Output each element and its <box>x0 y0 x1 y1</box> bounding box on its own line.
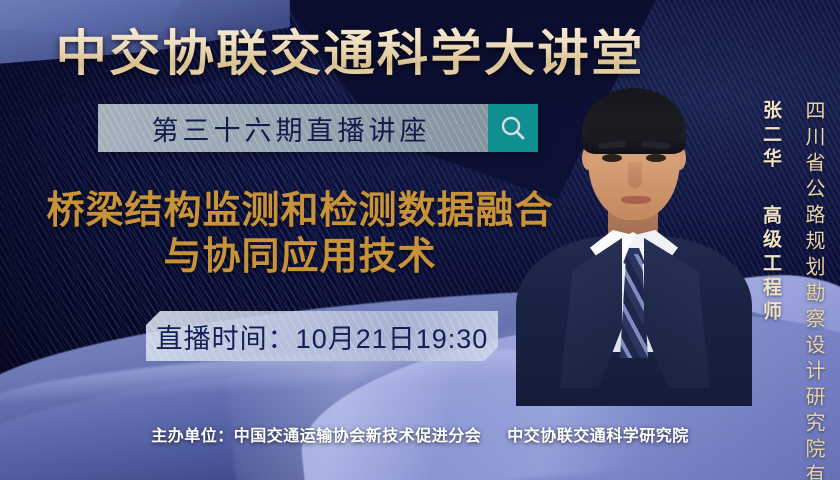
lecture-title-line2: 与协同应用技术 <box>30 234 570 280</box>
portrait-nose <box>628 162 642 188</box>
page-title: 中交协联交通科学大讲堂 <box>0 14 718 85</box>
live-time-badge: 直播时间：10月21日19:30 <box>146 311 498 361</box>
search-bar[interactable]: 第三十六期直播讲座 <box>98 104 538 152</box>
footer-organizers: 主办单位：中国交通运输协会新技术促进分会中交协联交通科学研究院 <box>0 422 840 446</box>
search-input-value: 第三十六期直播讲座 <box>152 109 435 148</box>
portrait-eye-right <box>646 154 666 162</box>
portrait-eye-left <box>602 154 622 162</box>
speaker-job-title: 高级工程师 <box>757 205 784 325</box>
organizer-name-2: 中交协联交通科学研究院 <box>507 428 689 445</box>
portrait-mouth <box>621 196 651 204</box>
organizer-name-1: 中国交通运输协会新技术促进分会 <box>234 428 482 445</box>
live-time-text: 直播时间：10月21日19:30 <box>156 317 489 356</box>
search-input[interactable]: 第三十六期直播讲座 <box>98 104 488 152</box>
organizer-label: 主办单位： <box>151 428 234 445</box>
lecture-title-line1: 桥梁结构监测和检测数据融合 <box>46 190 553 232</box>
lecture-title: 桥梁结构监测和检测数据融合 与协同应用技术 <box>30 188 570 281</box>
lecture-poster: 中交协联交通科学大讲堂 第三十六期直播讲座 桥梁结构监测和检测数据融合 与协同应… <box>0 0 840 480</box>
speaker-name: 张二华 <box>757 100 784 172</box>
search-icon <box>498 113 528 143</box>
search-button[interactable] <box>488 104 538 152</box>
